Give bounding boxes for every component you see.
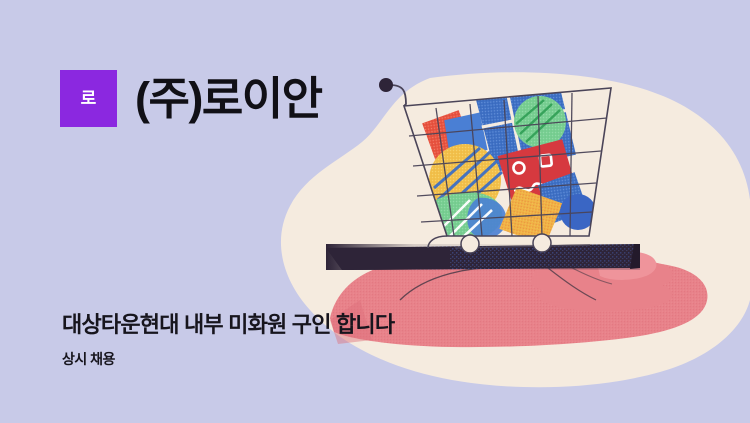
job-subline: 상시 채용 [62, 351, 394, 368]
job-posting-banner: 로 (주)로이안 대상타운현대 내부 미화원 구인 합니다 상시 채용 [0, 0, 750, 423]
brand-row: 로 (주)로이안 [60, 70, 322, 127]
cart-wheel-left [461, 235, 479, 253]
hand-finger-middle [538, 280, 672, 311]
logo-glyph: 로 [81, 90, 97, 107]
cart-wheel-right [533, 234, 551, 252]
headline-block: 대상타운현대 내부 미화원 구인 합니다 상시 채용 [62, 311, 394, 368]
company-name: (주)로이안 [135, 76, 322, 121]
company-logo-mark: 로 [60, 70, 117, 127]
cart-handle-knob [379, 78, 393, 92]
job-headline: 대상타운현대 내부 미화원 구인 합니다 [62, 311, 394, 339]
